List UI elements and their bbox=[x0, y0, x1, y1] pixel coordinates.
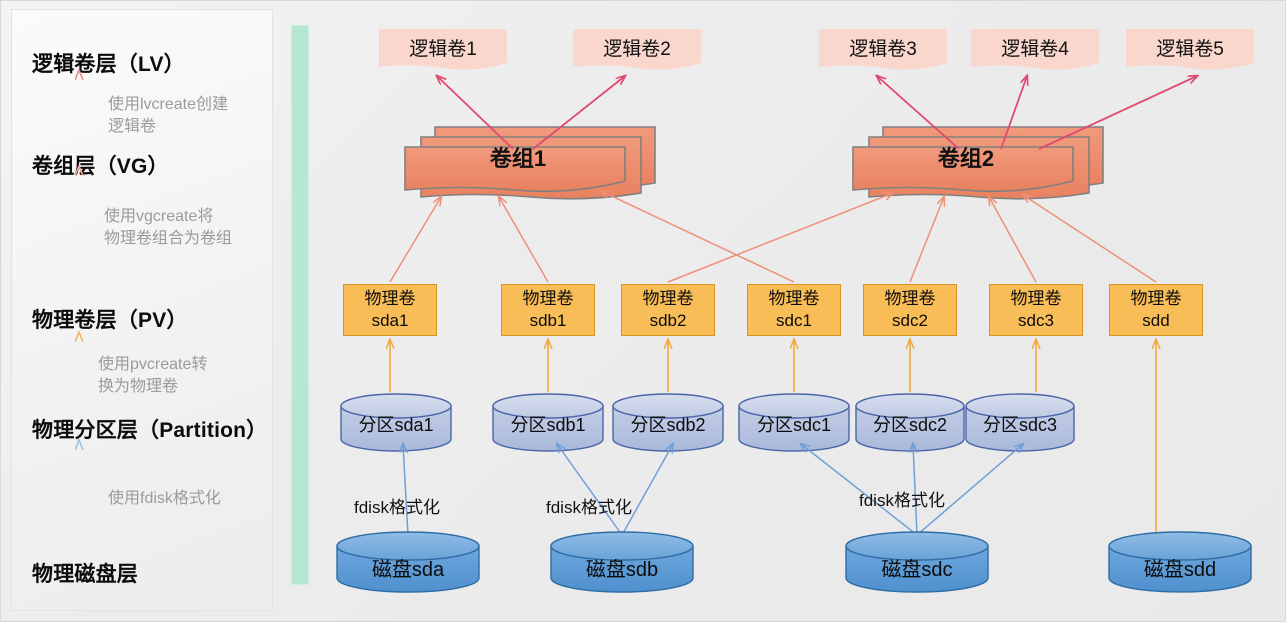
physical-volume-sdb1[interactable]: 物理卷 sdb1 bbox=[501, 284, 595, 336]
pv-sdc2-device: sdc2 bbox=[892, 310, 928, 332]
pv-sdc3-device: sdc3 bbox=[1018, 310, 1054, 332]
disk-sdb[interactable]: 磁盘sdb bbox=[551, 537, 693, 593]
partition-sdb1-label: 分区sdb1 bbox=[493, 411, 603, 437]
physical-volume-sdc1[interactable]: 物理卷 sdc1 bbox=[747, 284, 841, 336]
layer-label-vg: 卷组层（VG） bbox=[32, 150, 169, 180]
logical-volume-1-label: 逻辑卷1 bbox=[379, 34, 507, 61]
edge-disk-sda-to-part-sda1 bbox=[403, 444, 408, 535]
pv-sdd-title: 物理卷 bbox=[1131, 288, 1182, 310]
pv-sda1-title: 物理卷 bbox=[365, 288, 416, 310]
layer-label-lv: 逻辑卷层（LV） bbox=[32, 48, 185, 78]
logical-volume-2[interactable]: 逻辑卷2 bbox=[573, 27, 701, 77]
physical-volume-sdc3[interactable]: 物理卷 sdc3 bbox=[989, 284, 1083, 336]
diagram-canvas: 逻辑卷层（LV） 使用lvcreate创建 逻辑卷 卷组层（VG） 使用vgcr… bbox=[0, 0, 1286, 622]
physical-volume-sdb2[interactable]: 物理卷 sdb2 bbox=[621, 284, 715, 336]
physical-volume-sdd[interactable]: 物理卷 sdd bbox=[1109, 284, 1203, 336]
step-note-pvcreate: 使用pvcreate转 换为物理卷 bbox=[98, 354, 207, 398]
partition-sdc2-label: 分区sdc2 bbox=[856, 411, 964, 437]
partition-sdc1[interactable]: 分区sdc1 bbox=[739, 394, 849, 452]
disk-sdd[interactable]: 磁盘sdd bbox=[1109, 537, 1251, 593]
physical-volume-sdc2[interactable]: 物理卷 sdc2 bbox=[863, 284, 957, 336]
partition-sda1-label: 分区sda1 bbox=[341, 411, 451, 437]
pv-sdb2-device: sdb2 bbox=[650, 310, 687, 332]
logical-volume-3[interactable]: 逻辑卷3 bbox=[819, 27, 947, 77]
logical-volume-1[interactable]: 逻辑卷1 bbox=[379, 27, 507, 77]
step-note-lvcreate: 使用lvcreate创建 逻辑卷 bbox=[108, 94, 228, 138]
volume-group-1[interactable]: 卷组1 bbox=[403, 119, 655, 199]
edge-pv-sda1-to-vg1 bbox=[390, 197, 441, 282]
edge-note-fdisk-sdb: fdisk格式化 bbox=[546, 493, 632, 518]
partition-sdc2[interactable]: 分区sdc2 bbox=[856, 394, 964, 452]
volume-group-1-label: 卷组1 bbox=[403, 141, 633, 173]
pv-sdb1-title: 物理卷 bbox=[523, 288, 574, 310]
pv-sdb2-title: 物理卷 bbox=[643, 288, 694, 310]
pv-sdc1-title: 物理卷 bbox=[769, 288, 820, 310]
edge-pv-sdb2-to-vg2 bbox=[668, 193, 893, 282]
logical-volume-3-label: 逻辑卷3 bbox=[819, 34, 947, 61]
edge-note-fdisk-sda: fdisk格式化 bbox=[354, 493, 440, 518]
edge-pv-sdc1-to-vg1 bbox=[601, 191, 794, 282]
pv-sdc1-device: sdc1 bbox=[776, 310, 812, 332]
partition-sda1[interactable]: 分区sda1 bbox=[341, 394, 451, 452]
disk-sda-label: 磁盘sda bbox=[337, 553, 479, 582]
edge-pv-sdc3-to-vg2 bbox=[989, 197, 1036, 282]
disk-sdc-label: 磁盘sdc bbox=[846, 553, 988, 582]
disk-sdc[interactable]: 磁盘sdc bbox=[846, 537, 988, 593]
edge-pv-sdd-to-vg2 bbox=[1023, 195, 1156, 282]
logical-volume-5[interactable]: 逻辑卷5 bbox=[1126, 27, 1254, 77]
volume-group-2[interactable]: 卷组2 bbox=[851, 119, 1103, 199]
partition-sdc3-label: 分区sdc3 bbox=[966, 411, 1074, 437]
volume-group-2-label: 卷组2 bbox=[851, 141, 1081, 173]
pv-sdb1-device: sdb1 bbox=[530, 310, 567, 332]
legend-panel: 逻辑卷层（LV） 使用lvcreate创建 逻辑卷 卷组层（VG） 使用vgcr… bbox=[11, 9, 273, 611]
edge-disk-sdb-to-part-sdb2 bbox=[622, 444, 673, 535]
edge-disk-sdb-to-part-sdb1 bbox=[557, 444, 622, 535]
logical-volume-4-label: 逻辑卷4 bbox=[971, 34, 1099, 61]
logical-volume-5-label: 逻辑卷5 bbox=[1126, 34, 1254, 61]
partition-sdb2-label: 分区sdb2 bbox=[613, 411, 723, 437]
pv-sdc3-title: 物理卷 bbox=[1011, 288, 1062, 310]
partition-sdb2[interactable]: 分区sdb2 bbox=[613, 394, 723, 452]
step-note-vgcreate: 使用vgcreate将 物理卷组合为卷组 bbox=[104, 206, 232, 250]
pv-sda1-device: sda1 bbox=[372, 310, 409, 332]
edge-note-fdisk-sdc: fdisk格式化 bbox=[859, 486, 945, 511]
pv-sdd-device: sdd bbox=[1142, 310, 1169, 332]
edge-pv-sdb1-to-vg1 bbox=[499, 197, 548, 282]
disk-sdb-label: 磁盘sdb bbox=[551, 553, 693, 582]
logical-volume-2-label: 逻辑卷2 bbox=[573, 34, 701, 61]
section-divider bbox=[291, 25, 309, 585]
disk-sdd-label: 磁盘sdd bbox=[1109, 553, 1251, 582]
partition-sdc1-label: 分区sdc1 bbox=[739, 411, 849, 437]
edge-pv-sdc2-to-vg2 bbox=[910, 197, 944, 282]
pv-sdc2-title: 物理卷 bbox=[885, 288, 936, 310]
layer-label-partition: 物理分区层（Partition） bbox=[32, 414, 267, 444]
logical-volume-4[interactable]: 逻辑卷4 bbox=[971, 27, 1099, 77]
layer-label-disk: 物理磁盘层 bbox=[32, 558, 138, 588]
physical-volume-sda1[interactable]: 物理卷 sda1 bbox=[343, 284, 437, 336]
disk-sda[interactable]: 磁盘sda bbox=[337, 537, 479, 593]
layer-label-pv: 物理卷层（PV） bbox=[32, 304, 188, 334]
step-note-fdisk: 使用fdisk格式化 bbox=[108, 488, 221, 510]
partition-sdb1[interactable]: 分区sdb1 bbox=[493, 394, 603, 452]
partition-sdc3[interactable]: 分区sdc3 bbox=[966, 394, 1074, 452]
